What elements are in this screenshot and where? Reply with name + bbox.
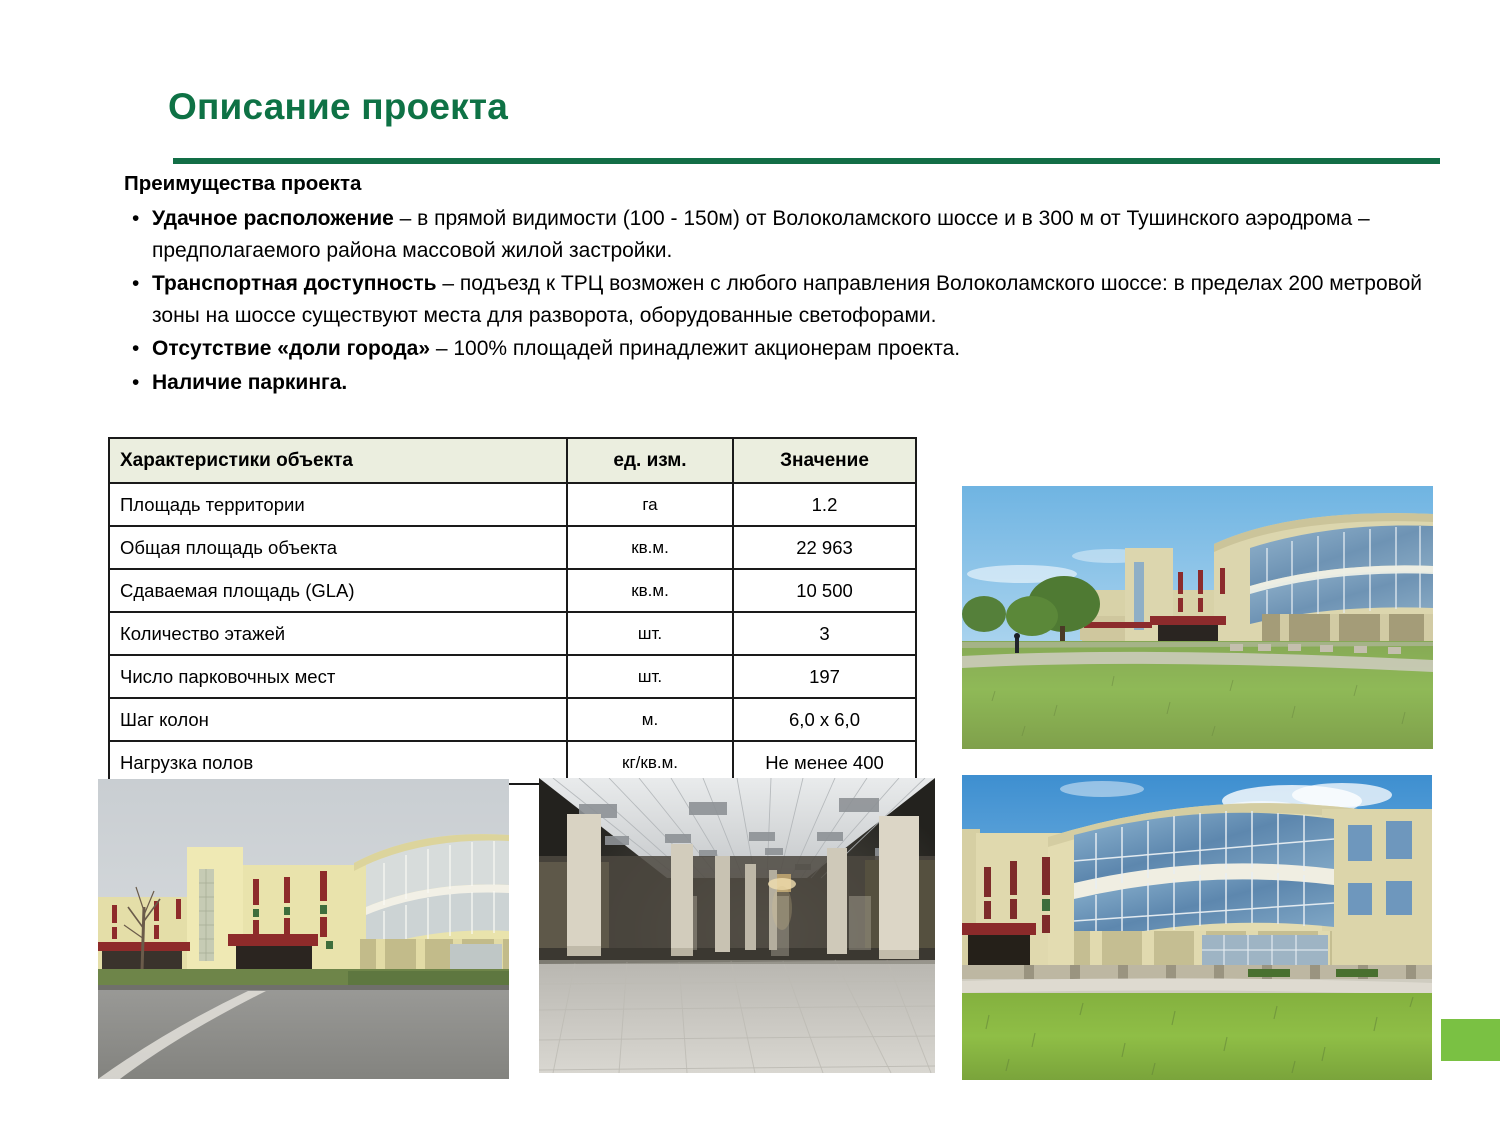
list-item-text: Отсутствие «доли города» – 100% площадей… <box>152 333 1440 365</box>
list-item: • Наличие паркинга. <box>124 367 1440 399</box>
cell-name: Шаг колон <box>109 698 567 741</box>
list-item: • Отсутствие «доли города» – 100% площад… <box>124 333 1440 365</box>
photo-exterior-road <box>98 779 509 1079</box>
bullet-point-icon: • <box>124 268 152 300</box>
list-item-text: Транспортная доступность – подъезд к ТРЦ… <box>152 268 1440 331</box>
object-characteristics-table: Характеристики объекта ед. изм. Значение… <box>108 437 917 785</box>
cell-name: Количество этажей <box>109 612 567 655</box>
bullet-point-icon: • <box>124 333 152 365</box>
list-item-text: Наличие паркинга. <box>152 367 1440 399</box>
title-divider <box>173 158 1440 164</box>
cell-name: Площадь территории <box>109 483 567 526</box>
table-row: Площадь территории га 1.2 <box>109 483 916 526</box>
list-item-text: Удачное расположение – в прямой видимост… <box>152 203 1440 266</box>
list-item: • Транспортная доступность – подъезд к Т… <box>124 268 1440 331</box>
bullet-point-icon: • <box>124 203 152 235</box>
table-row: Общая площадь объекта кв.м. 22 963 <box>109 526 916 569</box>
photo-exterior-sunny-left <box>962 486 1433 749</box>
cell-name: Общая площадь объекта <box>109 526 567 569</box>
cell-value: 1.2 <box>733 483 916 526</box>
column-header-name: Характеристики объекта <box>109 438 567 483</box>
cell-unit: шт. <box>567 612 733 655</box>
table-row: Сдаваемая площадь (GLA) кв.м. 10 500 <box>109 569 916 612</box>
table-row: Шаг колон м. 6,0 х 6,0 <box>109 698 916 741</box>
column-header-value: Значение <box>733 438 916 483</box>
list-item-lead: Удачное расположение <box>152 207 394 230</box>
cell-unit: га <box>567 483 733 526</box>
section-subheading: Преимущества проекта <box>124 172 361 196</box>
cell-value: 3 <box>733 612 916 655</box>
page-title: Описание проекта <box>168 86 508 128</box>
table-row: Число парковочных мест шт. 197 <box>109 655 916 698</box>
list-item-rest: – 100% площадей принадлежит акционерам п… <box>430 337 960 360</box>
cell-unit: м. <box>567 698 733 741</box>
cell-name: Сдаваемая площадь (GLA) <box>109 569 567 612</box>
accent-green-block <box>1441 1019 1500 1061</box>
table-header-row: Характеристики объекта ед. изм. Значение <box>109 438 916 483</box>
list-item-lead: Наличие паркинга. <box>152 371 347 394</box>
cell-unit: шт. <box>567 655 733 698</box>
cell-value: 10 500 <box>733 569 916 612</box>
cell-name: Нагрузка полов <box>109 741 567 784</box>
bullet-point-icon: • <box>124 367 152 399</box>
cell-name: Число парковочных мест <box>109 655 567 698</box>
advantages-list: • Удачное расположение – в прямой видимо… <box>124 203 1440 400</box>
photo-exterior-sunny-main <box>962 775 1432 1080</box>
cell-unit: кв.м. <box>567 526 733 569</box>
column-header-unit: ед. изм. <box>567 438 733 483</box>
cell-unit: кв.м. <box>567 569 733 612</box>
list-item-lead: Отсутствие «доли города» <box>152 337 430 360</box>
table-row: Количество этажей шт. 3 <box>109 612 916 655</box>
cell-value: 197 <box>733 655 916 698</box>
cell-value: 6,0 х 6,0 <box>733 698 916 741</box>
list-item-lead: Транспортная доступность <box>152 272 437 295</box>
list-item: • Удачное расположение – в прямой видимо… <box>124 203 1440 266</box>
cell-value: 22 963 <box>733 526 916 569</box>
photo-interior-hall <box>539 778 935 1073</box>
